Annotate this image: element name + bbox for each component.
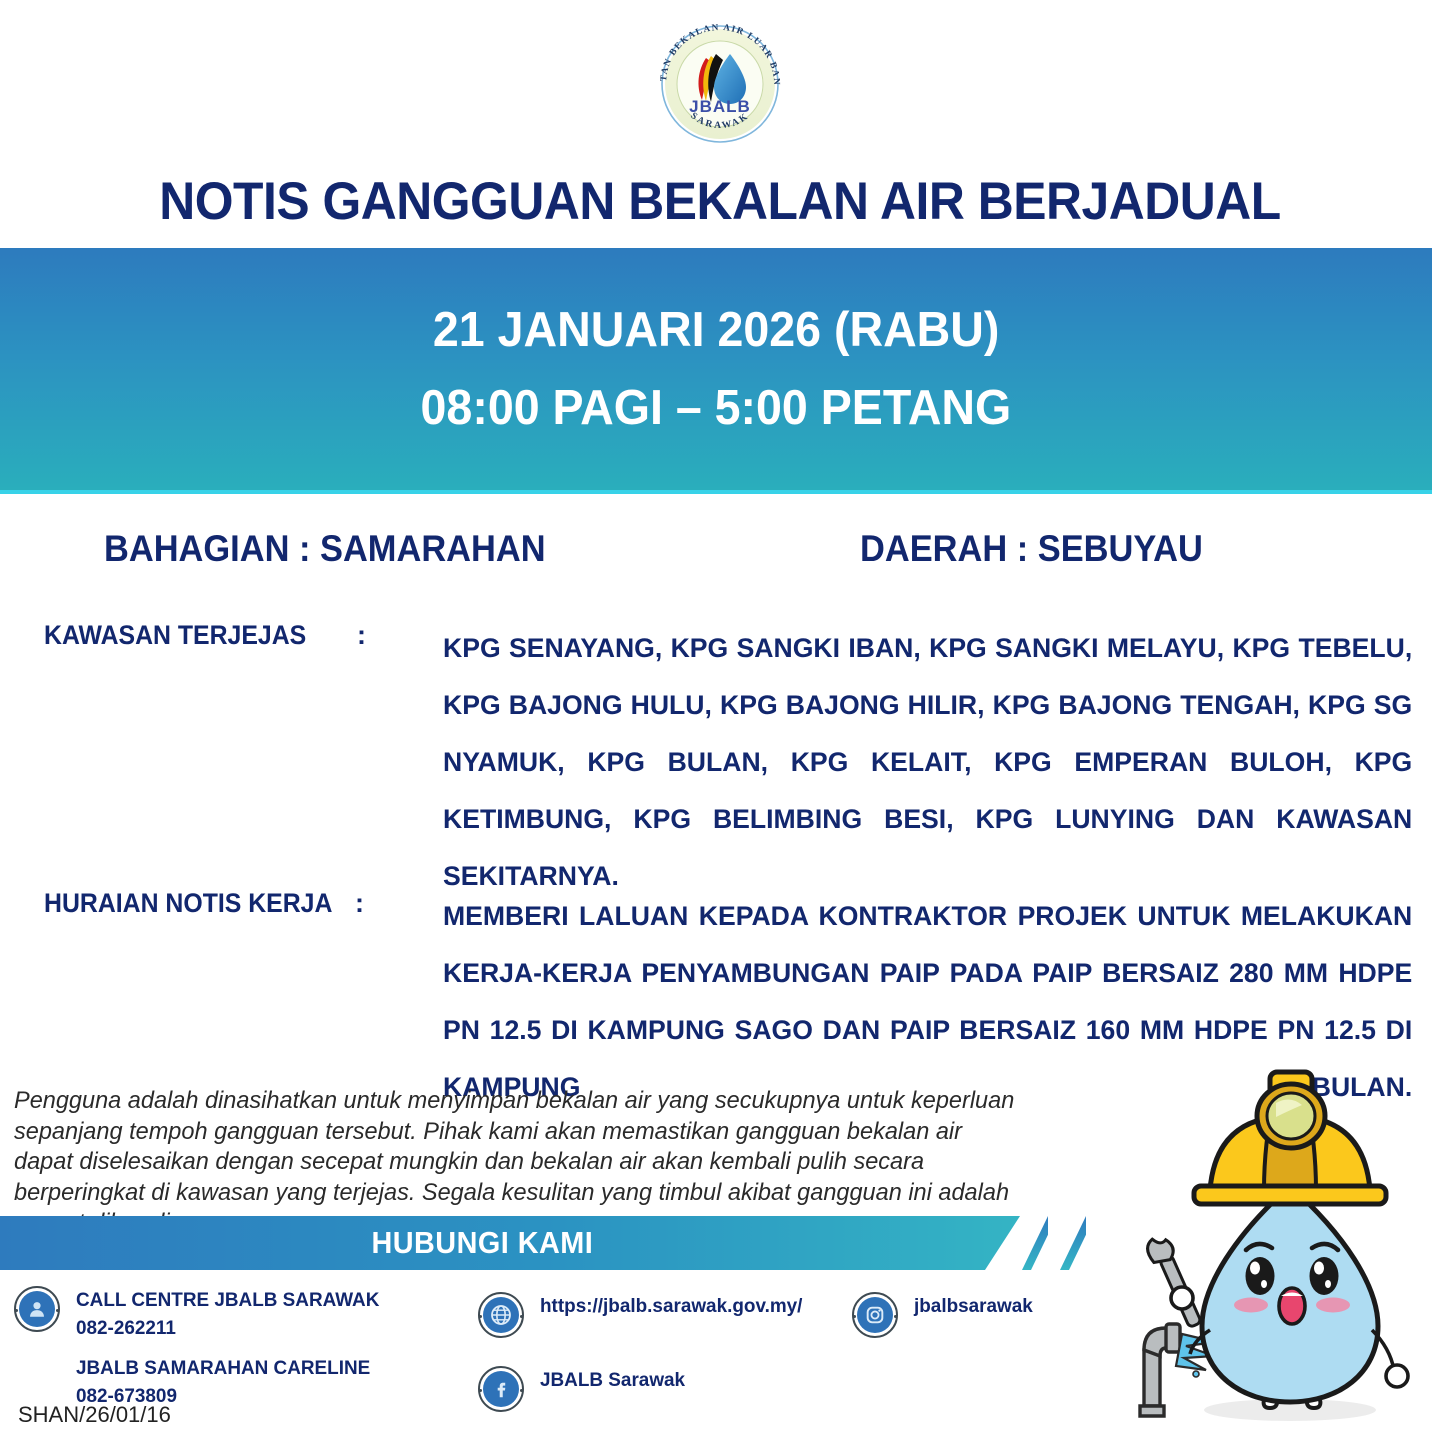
website-url: https://jbalb.sarawak.gov.my/ xyxy=(540,1292,802,1320)
contact-instagram[interactable]: jbalbsarawak xyxy=(852,1292,1036,1338)
contact-facebook[interactable]: JBALB Sarawak xyxy=(478,1366,690,1412)
facebook-name: JBALB Sarawak xyxy=(540,1366,685,1394)
division-label: BAHAGIAN : SAMARAHAN xyxy=(104,528,546,570)
svg-text:JBALB: JBALB xyxy=(689,97,751,116)
banner-stripe-2 xyxy=(1060,1216,1086,1270)
work-description-label: HURAIAN NOTIS KERJA xyxy=(44,888,332,919)
region-row: BAHAGIAN : SAMARAHAN DAERAH : SEBUYAU xyxy=(0,528,1440,580)
outage-date: 21 JANUARI 2026 (RABU) xyxy=(433,291,1000,369)
page-title: NOTIS GANGGUAN BEKALAN AIR BERJADUAL xyxy=(43,172,1397,232)
affected-areas-colon: : xyxy=(357,620,366,651)
banner-stripe-1 xyxy=(1022,1216,1048,1270)
contact-banner: HUBUNGI KAMI xyxy=(0,1216,1160,1270)
contact-banner-body: HUBUNGI KAMI xyxy=(0,1216,1020,1270)
affected-areas-label: KAWASAN TERJEJAS xyxy=(44,620,306,651)
contact-banner-label: HUBUNGI KAMI xyxy=(371,1225,593,1261)
water-droplet-mascot xyxy=(1118,1058,1440,1440)
careline-title: JBALB SAMARAHAN CARELINE xyxy=(76,1354,379,1382)
district-label: DAERAH : SEBUYAU xyxy=(860,528,1203,570)
poster-root: JABATAN BEKALAN AIR LUAR BANDAR SARAWAK … xyxy=(0,0,1440,1440)
call-centre-number: 082-262211 xyxy=(76,1314,379,1342)
instagram-icon xyxy=(852,1292,898,1338)
person-icon xyxy=(14,1286,60,1332)
facebook-icon xyxy=(478,1366,524,1412)
reference-code: SHAN/26/01/16 xyxy=(18,1402,171,1428)
instagram-handle: jbalbsarawak xyxy=(914,1292,1033,1320)
globe-icon xyxy=(478,1292,524,1338)
contact-call-centre[interactable]: CALL CENTRE JBALB SARAWAK 082-262211 JBA… xyxy=(14,1286,389,1410)
schedule-banner: 21 JANUARI 2026 (RABU) 08:00 PAGI – 5:00… xyxy=(0,248,1432,494)
jbalb-logo: JABATAN BEKALAN AIR LUAR BANDAR SARAWAK … xyxy=(644,2,796,154)
outage-time: 08:00 PAGI – 5:00 PETANG xyxy=(421,369,1012,447)
call-centre-title: CALL CENTRE JBALB SARAWAK xyxy=(76,1286,379,1314)
work-description-colon: : xyxy=(355,888,364,919)
contact-website[interactable]: https://jbalb.sarawak.gov.my/ xyxy=(478,1292,811,1338)
